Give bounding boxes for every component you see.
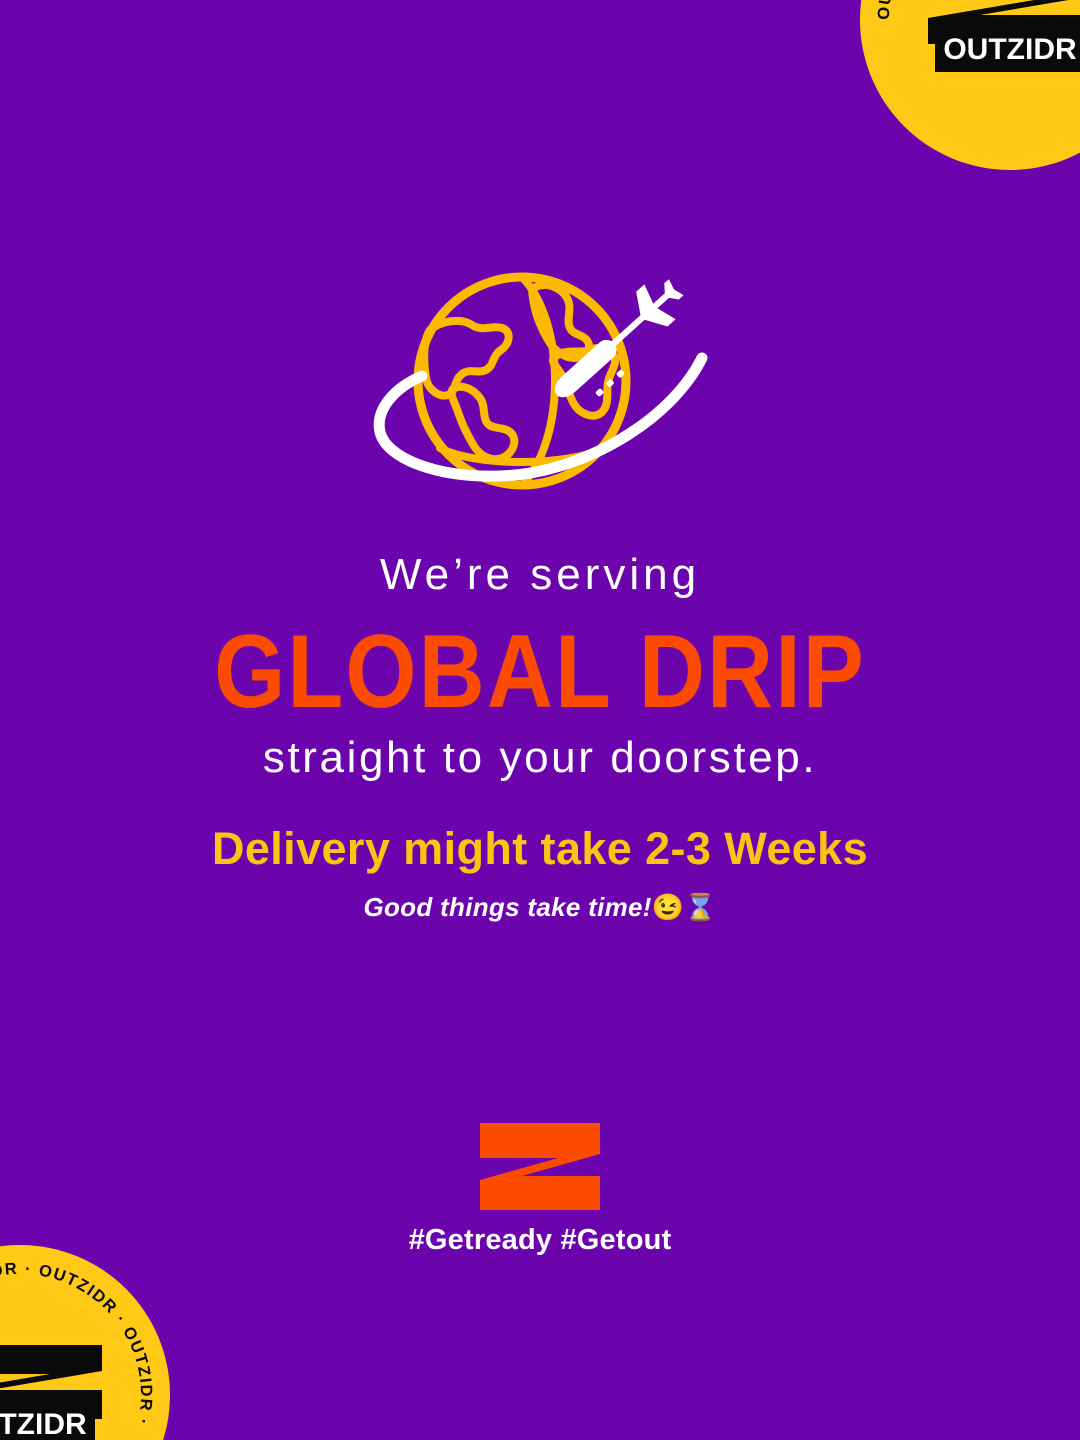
headline-line-2: GLOBAL DRIP: [0, 608, 1080, 735]
hero-logo: [0, 262, 1080, 512]
badge-center-word: OUTZIDR: [0, 1405, 95, 1440]
headline-block: We’re serving GLOBAL DRIP straight to yo…: [0, 548, 1080, 785]
poster-canvas: OUTZIDR · OUTZIDR · OUTZIDR · OUTZIDR · …: [0, 0, 1080, 1440]
headline-line-1: We’re serving: [0, 548, 1080, 602]
badge-top-right: OUTZIDR · OUTZIDR · OUTZIDR · OUTZIDR · …: [860, 0, 1080, 170]
badge-core-bottom-left: OUTZIDR: [0, 1343, 112, 1440]
delivery-subtext-row: Good things take time!😉⌛: [0, 892, 1080, 923]
badge-core-top-right: OUTZIDR: [918, 0, 1080, 72]
globe-airplane-icon: [370, 262, 710, 512]
headline-line-3: straight to your doorstep.: [0, 731, 1080, 785]
delivery-headline: Delivery might take 2-3 Weeks: [0, 822, 1080, 876]
footer-hashtags: #Getready #Getout: [409, 1224, 672, 1257]
footer-block: #Getready #Getout: [0, 1122, 1080, 1257]
delivery-block: Delivery might take 2-3 Weeks Good thing…: [0, 822, 1080, 923]
delivery-subtext: Good things take time!: [363, 892, 651, 922]
badge-center-word: OUTZIDR: [935, 30, 1080, 72]
wink-face-emoji: 😉: [652, 892, 684, 922]
z-logo-icon: [478, 1122, 602, 1212]
hourglass-emoji: ⌛: [684, 892, 716, 922]
badge-bottom-left: OUTZIDR · OUTZIDR · OUTZIDR · OUTZIDR · …: [0, 1245, 170, 1440]
